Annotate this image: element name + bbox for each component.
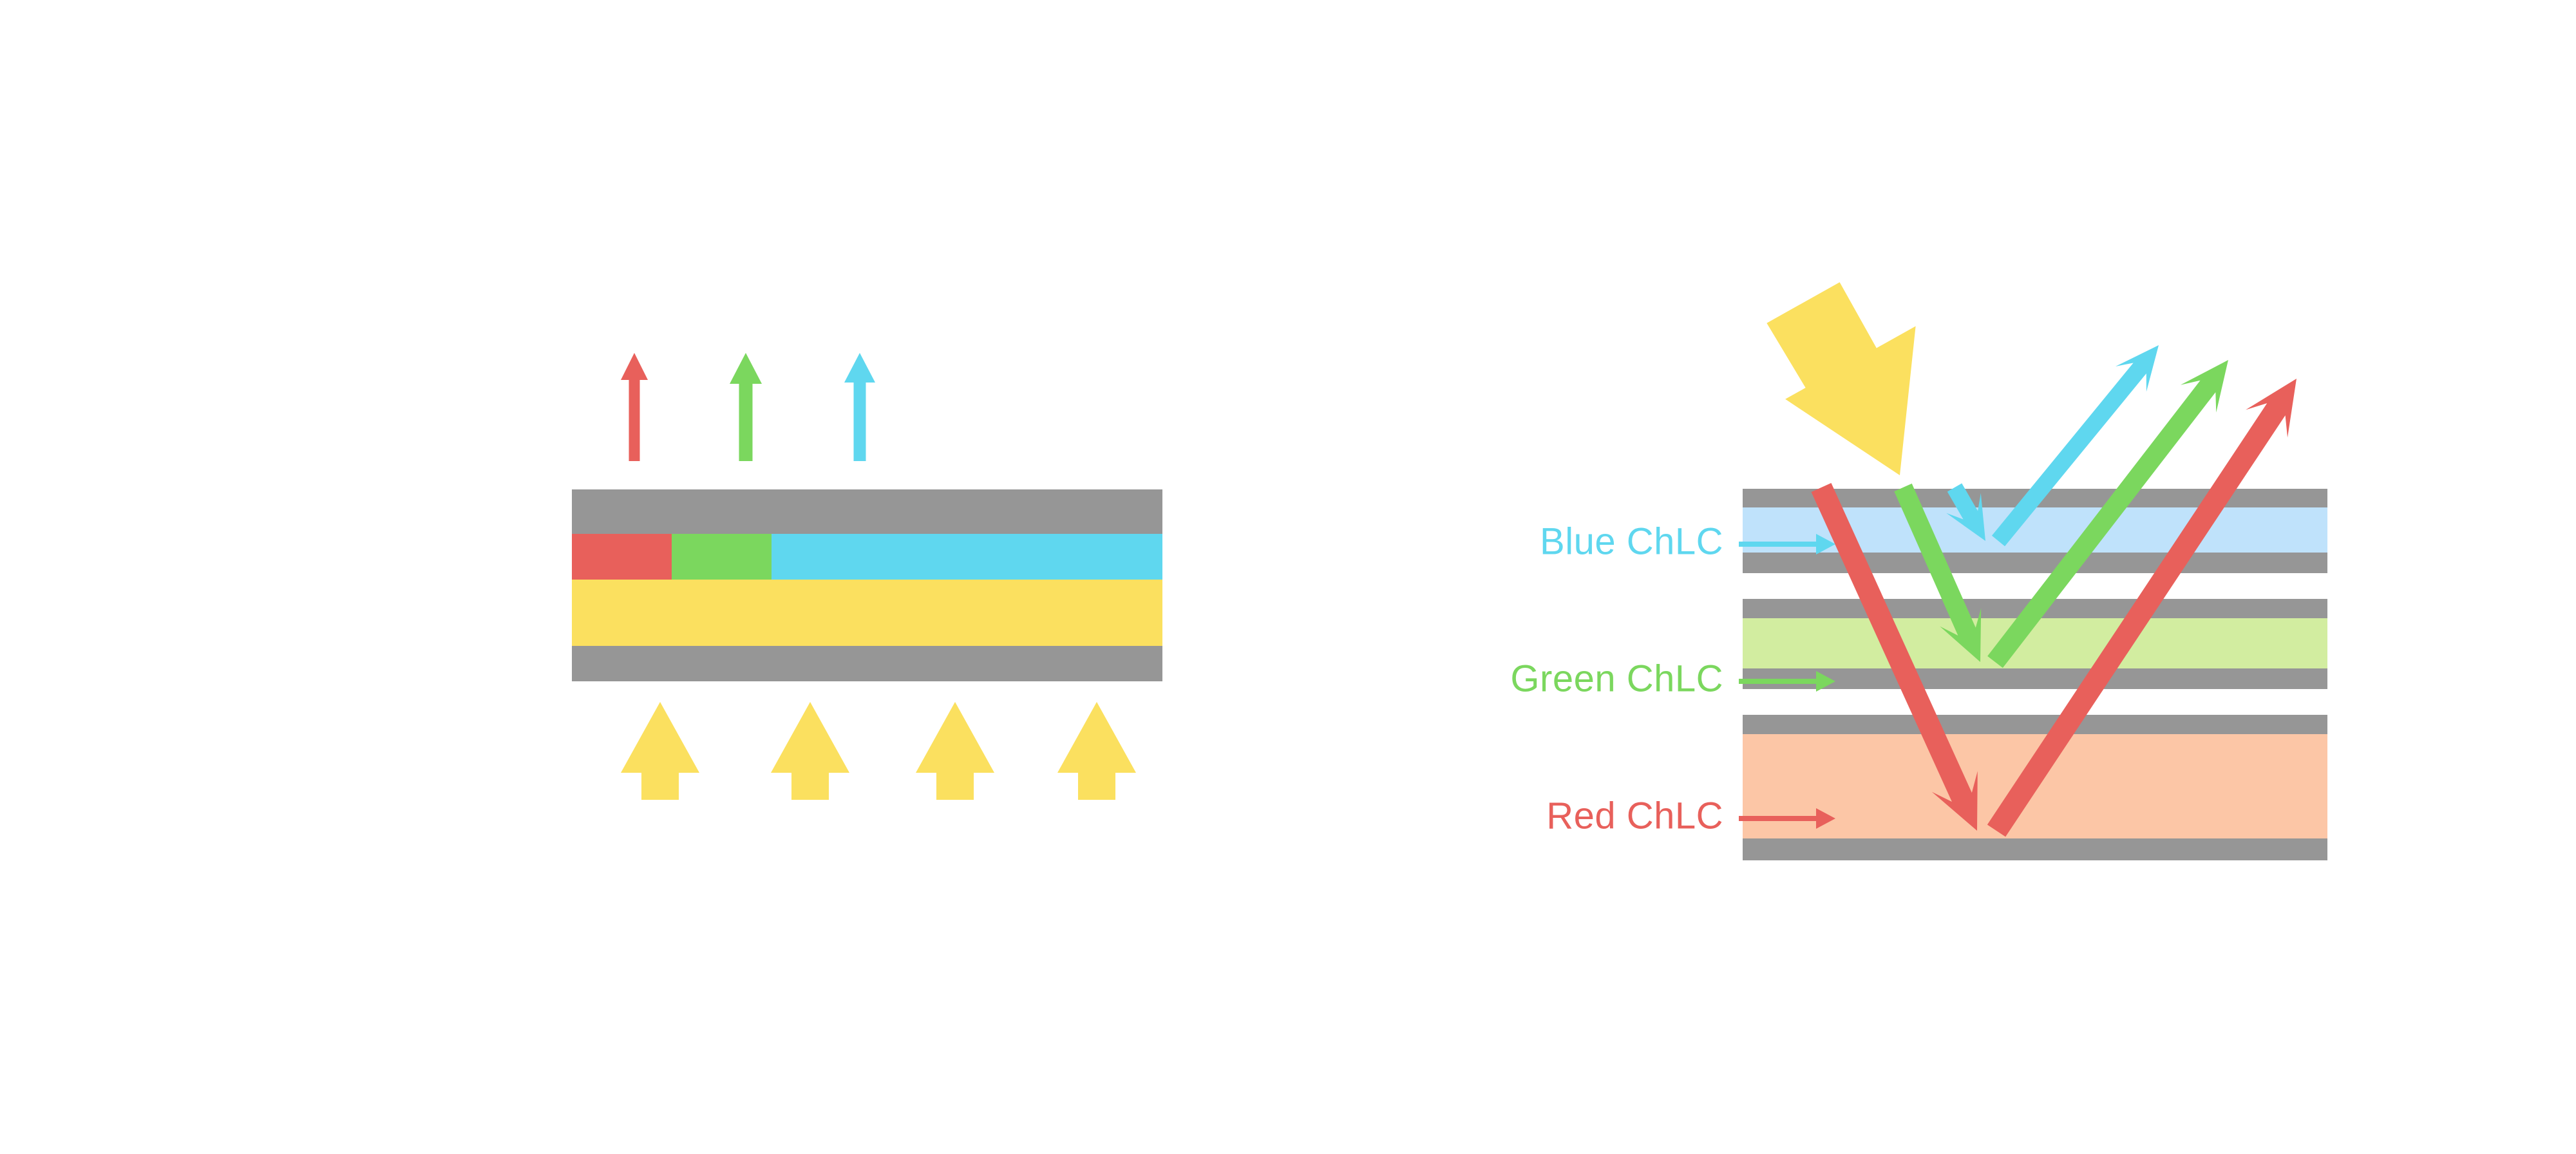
red-chlc-top-electrode [1743,715,2327,734]
backlight-arrow-2 [771,702,849,800]
chlc-diagram-svg: Blue ChLCGreen ChLCRed ChLC [0,0,2576,1154]
blue-filter-segment [772,534,1162,580]
red-filter-segment [572,534,672,580]
backlight-arrow-1 [621,702,699,800]
yellow-backlight-layer [572,580,1162,646]
label-blue-chlc: Blue ChLC [1540,520,1723,562]
backlight-arrow-3 [916,702,994,800]
emitted-green-arrow [730,353,762,461]
diagram-canvas: Blue ChLCGreen ChLCRed ChLC [0,0,2576,1154]
emitted-red-arrow [621,353,648,461]
label-green-chlc: Green ChLC [1510,657,1723,699]
label-red-chlc: Red ChLC [1546,795,1723,837]
green-filter-segment [672,534,772,580]
red-chlc-bottom-electrode [1743,838,2327,860]
blue-chlc-bottom-electrode [1743,553,2327,573]
backlight-arrow-4 [1057,702,1136,800]
emitted-blue-arrow [844,353,875,461]
incident-white-light-arrow [1766,282,1915,475]
bottom-electrode [572,646,1162,681]
top-electrode [572,489,1162,534]
